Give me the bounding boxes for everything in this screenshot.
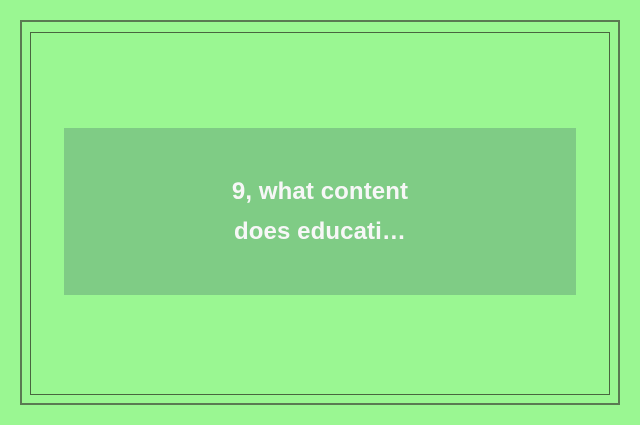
- content-panel[interactable]: 9, what content does educati…: [64, 128, 576, 295]
- panel-text: 9, what content does educati…: [216, 172, 424, 252]
- slide-canvas: 9, what content does educati…: [0, 0, 640, 425]
